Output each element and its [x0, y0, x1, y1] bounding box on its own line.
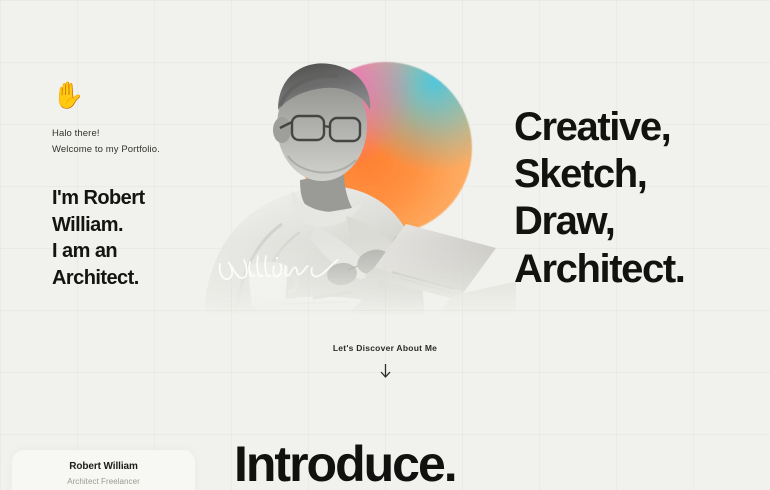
introduce-title: Introduce. [234, 439, 456, 489]
signature-overlay [214, 248, 344, 290]
introduce-section: Robert William Architect Freelancer Intr… [0, 420, 770, 490]
arrow-down-icon[interactable] [380, 364, 391, 384]
hero-headline: Creative, Sketch, Draw, Architect. [514, 104, 685, 293]
headline-line-2: Sketch, [514, 151, 685, 198]
profile-card-role: Architect Freelancer [12, 477, 195, 486]
profile-card-name: Robert William [12, 461, 195, 472]
discover-cta[interactable]: Let's Discover About Me [0, 343, 770, 384]
discover-label[interactable]: Let's Discover About Me [0, 343, 770, 353]
hero-visual [196, 48, 516, 316]
headline-line-4: Architect. [514, 246, 685, 293]
headline-line-1: Creative, [514, 104, 685, 151]
hero-section: ✋ Halo there! Welcome to my Portfolio. I… [0, 0, 770, 420]
profile-card[interactable]: Robert William Architect Freelancer [12, 450, 195, 490]
headline-line-3: Draw, [514, 198, 685, 245]
